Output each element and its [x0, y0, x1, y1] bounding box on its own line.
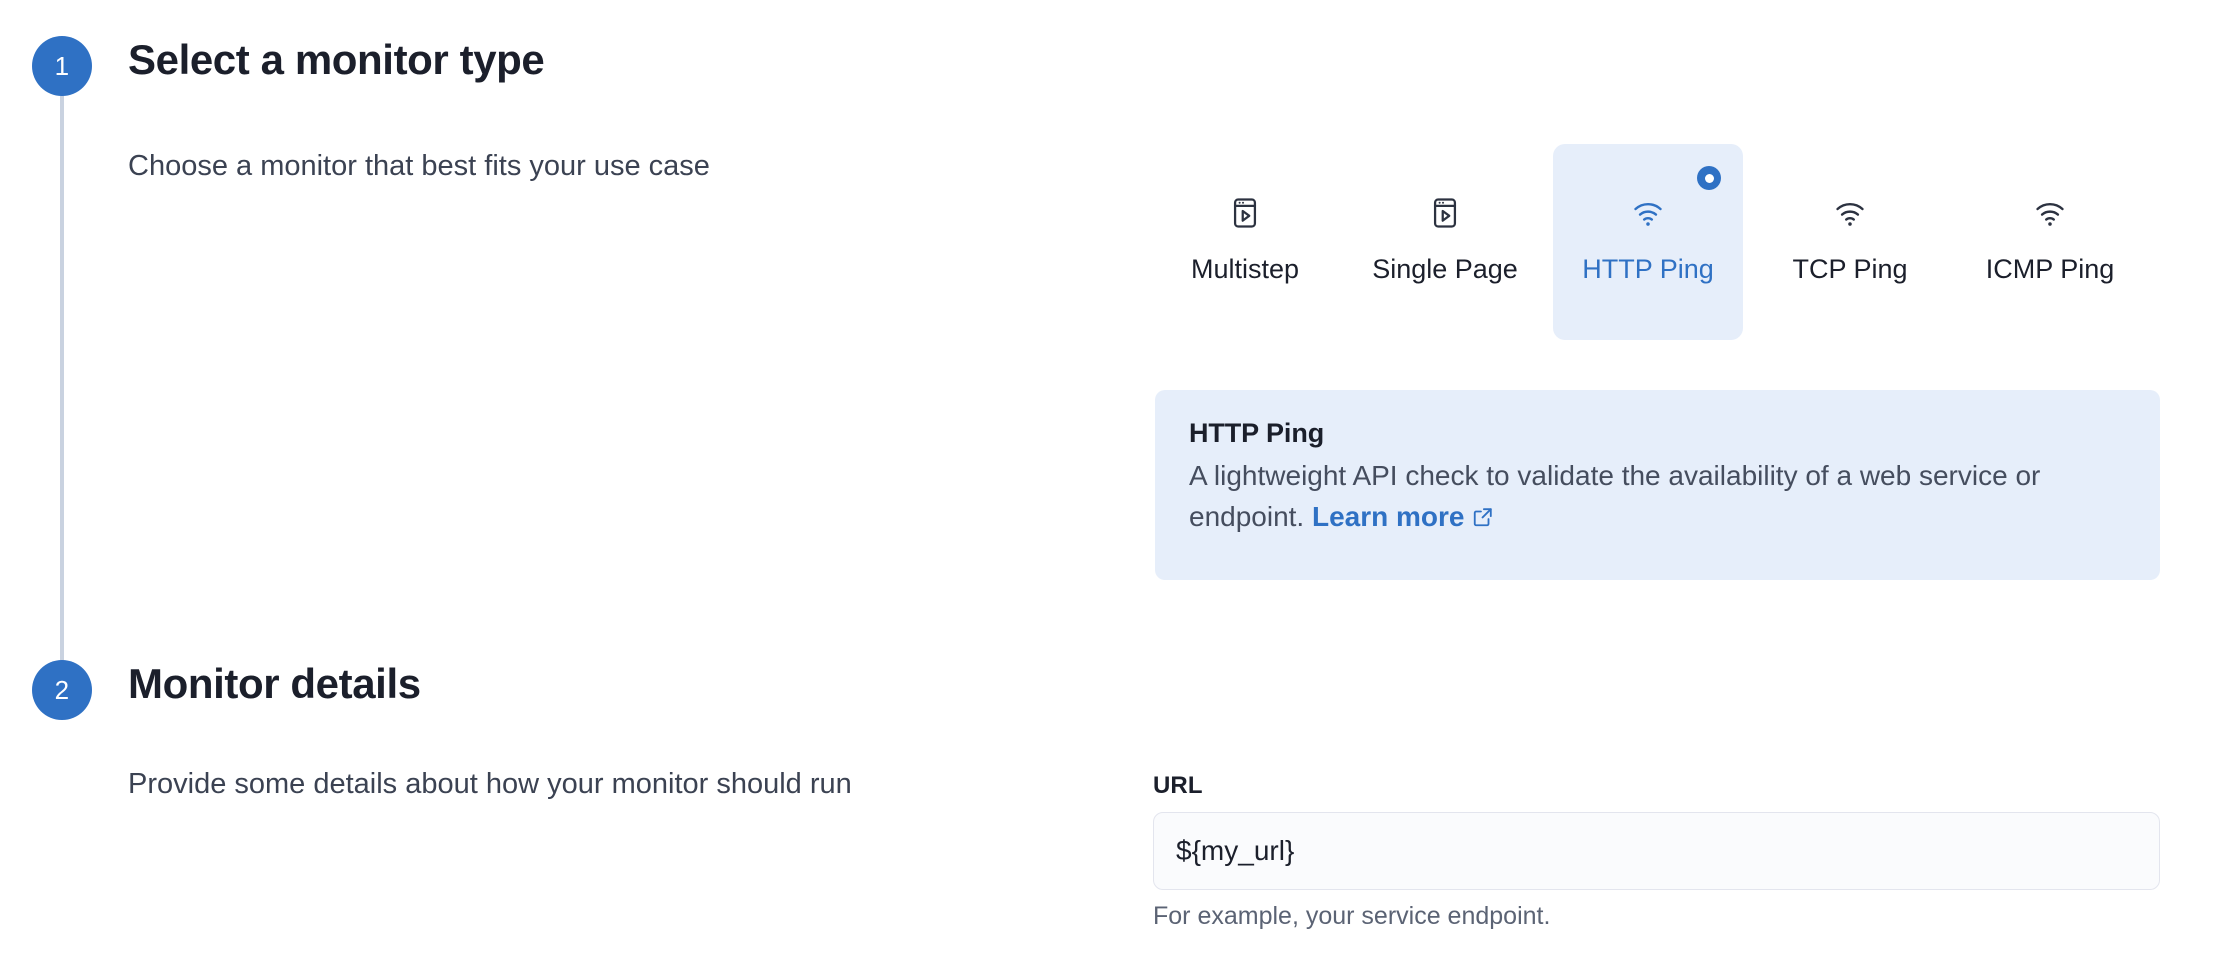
- monitor-type-label: HTTP Ping: [1553, 254, 1743, 285]
- create-monitor-wizard: 1 Select a monitor type Choose a monitor…: [0, 0, 2218, 958]
- monitor-type-label: ICMP Ping: [1955, 254, 2145, 285]
- step-badge-2: 2: [32, 660, 92, 720]
- external-link-icon: [1472, 506, 1494, 528]
- monitor-type-option-http-ping[interactable]: HTTP Ping: [1553, 144, 1743, 340]
- step-2-subtitle: Provide some details about how your moni…: [128, 768, 852, 801]
- browser-play-icon: [1428, 196, 1462, 230]
- step-2-title: Monitor details: [128, 660, 421, 708]
- monitor-type-label: Single Page: [1350, 254, 1540, 285]
- stepper-rail: [60, 90, 64, 700]
- info-panel-description: A lightweight API check to validate the …: [1189, 455, 2126, 538]
- monitor-type-option-multistep[interactable]: Multistep: [1150, 144, 1340, 340]
- radio-selected-icon[interactable]: [1697, 166, 1721, 190]
- url-input[interactable]: [1153, 812, 2160, 890]
- learn-more-label: Learn more: [1312, 501, 1465, 532]
- info-panel-title: HTTP Ping: [1189, 418, 2126, 449]
- url-field-label: URL: [1153, 772, 2160, 800]
- monitor-type-info-panel: HTTP Ping A lightweight API check to val…: [1155, 390, 2160, 580]
- learn-more-link[interactable]: Learn more: [1312, 501, 1494, 532]
- browser-play-icon: [1228, 196, 1262, 230]
- url-field-block: URL For example, your service endpoint.: [1153, 772, 2160, 931]
- step-badge-1: 1: [32, 36, 92, 96]
- wifi-ping-icon: [1833, 196, 1867, 230]
- url-field-help: For example, your service endpoint.: [1153, 902, 2160, 931]
- monitor-type-option-tcp-ping[interactable]: TCP Ping: [1755, 144, 1945, 340]
- monitor-type-option-icmp-ping[interactable]: ICMP Ping: [1955, 144, 2145, 340]
- wifi-ping-icon: [2033, 196, 2067, 230]
- step-number: 2: [55, 675, 70, 706]
- step-1-subtitle: Choose a monitor that best fits your use…: [128, 150, 710, 183]
- step-1-title: Select a monitor type: [128, 36, 544, 84]
- monitor-type-label: Multistep: [1150, 254, 1340, 285]
- monitor-type-label: TCP Ping: [1755, 254, 1945, 285]
- monitor-type-selector: Multistep Single Page: [1150, 144, 2160, 344]
- monitor-type-option-single-page[interactable]: Single Page: [1350, 144, 1540, 340]
- wifi-ping-icon: [1631, 196, 1665, 230]
- step-number: 1: [55, 51, 70, 82]
